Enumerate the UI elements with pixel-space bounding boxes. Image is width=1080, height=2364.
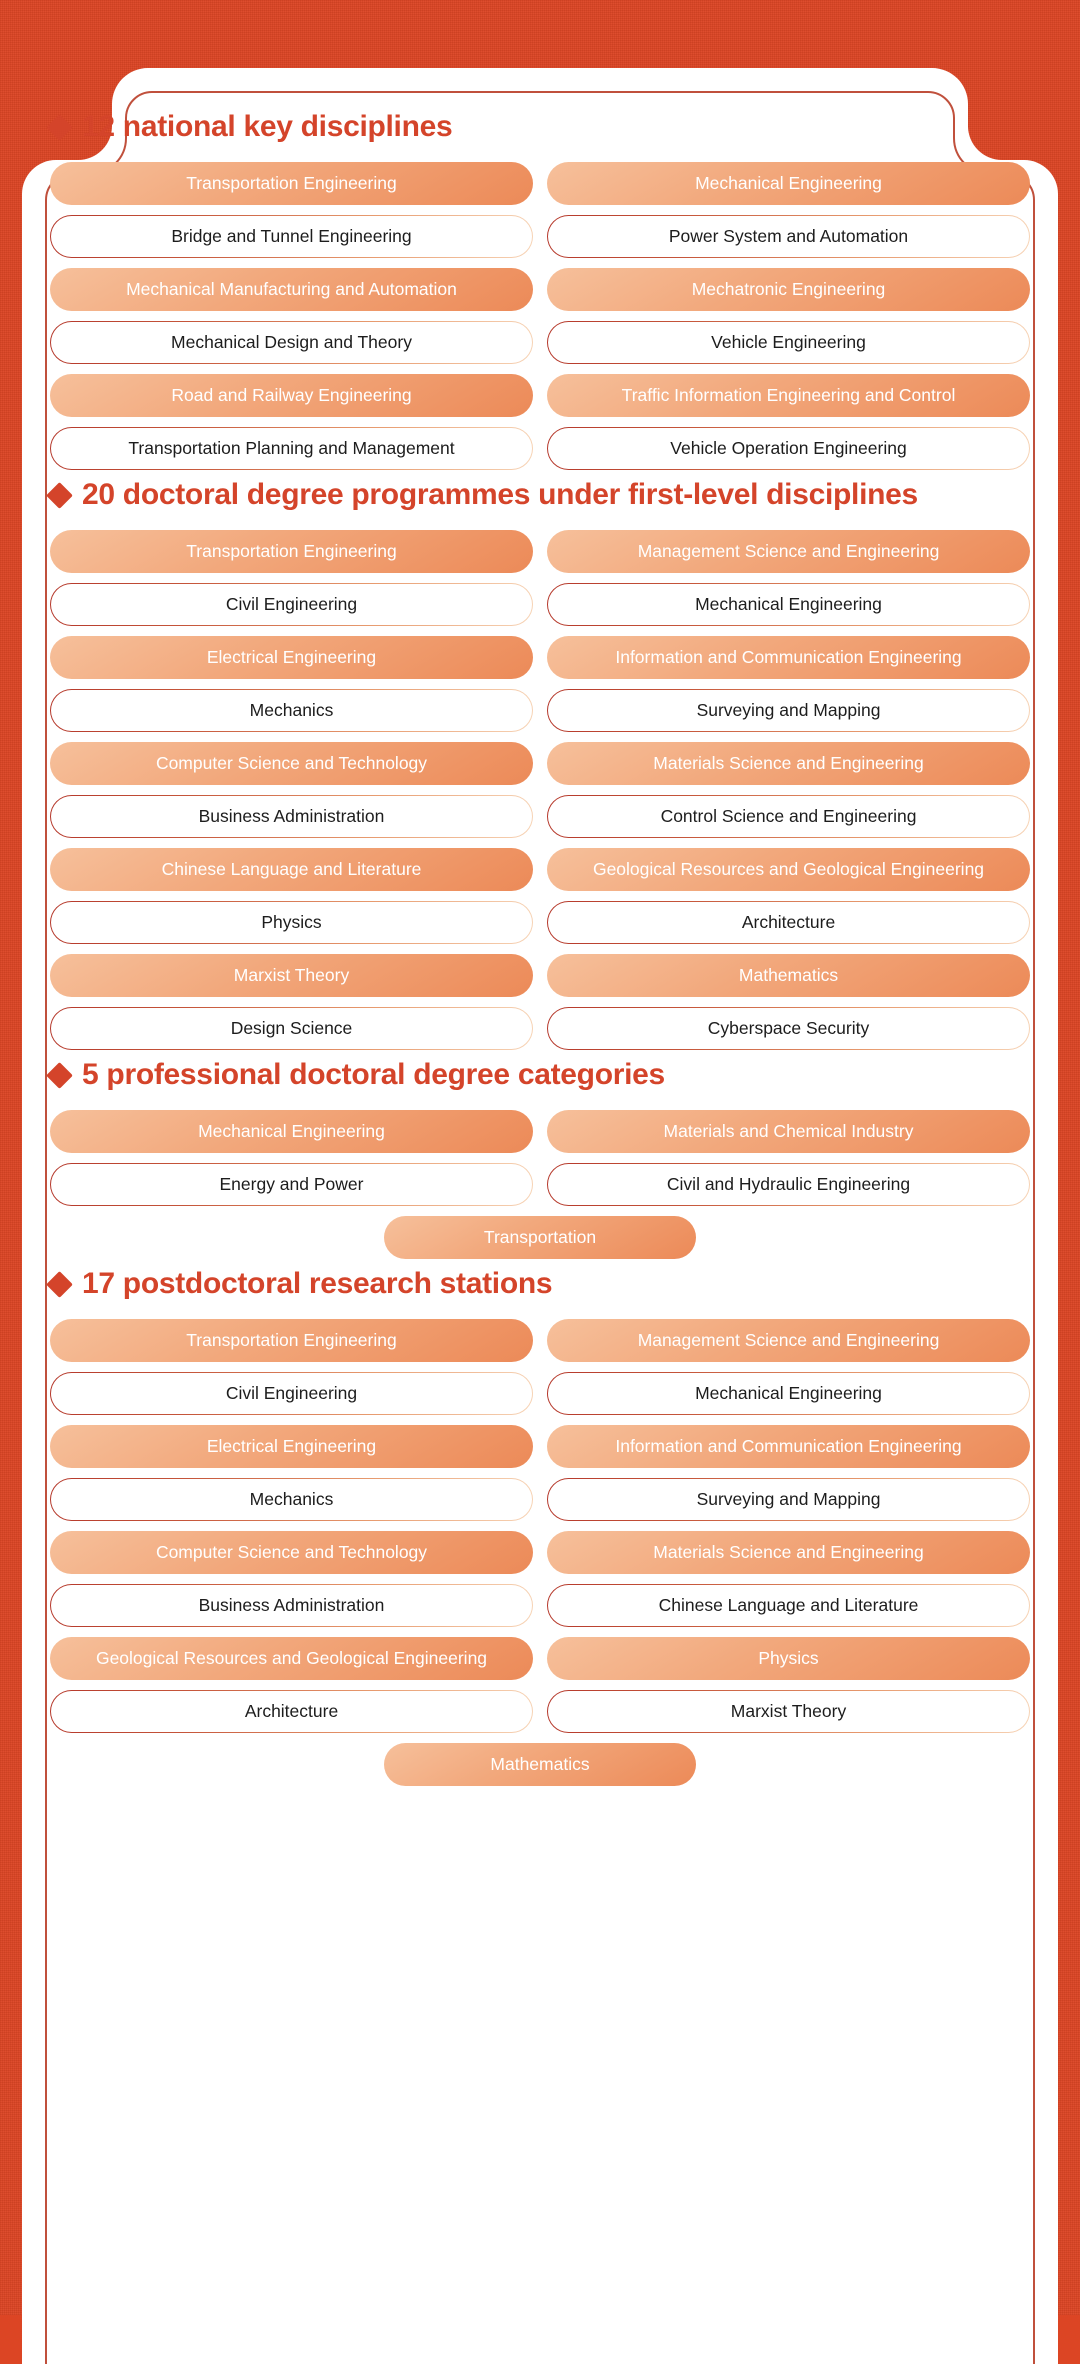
discipline-pill[interactable]: Chinese Language and Literature [50,848,533,891]
discipline-pill[interactable]: Mechanical Design and Theory [50,321,533,364]
discipline-pill[interactable]: Business Administration [50,795,533,838]
discipline-pill[interactable]: Materials Science and Engineering [547,1531,1030,1574]
discipline-pill[interactable]: Vehicle Engineering [547,321,1030,364]
discipline-pill[interactable]: Electrical Engineering [50,636,533,679]
section-professional-doctoral-categories: 5 professional doctoral degree categorie… [50,1060,1030,1259]
diamond-icon [46,482,73,509]
discipline-pill[interactable]: Geological Resources and Geological Engi… [50,1637,533,1680]
section-header: 17 postdoctoral research stations [50,1269,1030,1299]
section-national-key-disciplines: 12 national key disciplinesTransportatio… [50,112,1030,470]
discipline-pill[interactable]: Materials and Chemical Industry [547,1110,1030,1153]
discipline-pill-grid: Transportation EngineeringManagement Sci… [50,530,1030,1050]
diamond-icon [46,1062,73,1089]
discipline-pill[interactable]: Transportation Engineering [50,530,533,573]
discipline-pill[interactable]: Civil Engineering [50,1372,533,1415]
discipline-pill[interactable]: Physics [50,901,533,944]
discipline-pill[interactable]: Computer Science and Technology [50,742,533,785]
discipline-pill[interactable]: Computer Science and Technology [50,1531,533,1574]
discipline-pill[interactable]: Marxist Theory [547,1690,1030,1733]
section-header: 20 doctoral degree programmes under firs… [50,480,1030,510]
section-title: 5 professional doctoral degree categorie… [82,1060,665,1090]
discipline-pill[interactable]: Mechanical Manufacturing and Automation [50,268,533,311]
discipline-pill[interactable]: Mathematics [384,1743,696,1786]
discipline-pill[interactable]: Architecture [547,901,1030,944]
discipline-pill[interactable]: Mechanical Engineering [547,583,1030,626]
section-header: 12 national key disciplines [50,112,1030,142]
discipline-pill[interactable]: Vehicle Operation Engineering [547,427,1030,470]
discipline-pill[interactable]: Design Science [50,1007,533,1050]
discipline-pill[interactable]: Civil Engineering [50,583,533,626]
discipline-pill[interactable]: Power System and Automation [547,215,1030,258]
section-title: 20 doctoral degree programmes under firs… [82,480,918,510]
centered-pill-row: Transportation [50,1216,1030,1259]
discipline-pill[interactable]: Control Science and Engineering [547,795,1030,838]
discipline-pill[interactable]: Materials Science and Engineering [547,742,1030,785]
discipline-pill[interactable]: Transportation Engineering [50,162,533,205]
discipline-pill[interactable]: Marxist Theory [50,954,533,997]
discipline-pill[interactable]: Chinese Language and Literature [547,1584,1030,1627]
discipline-pill[interactable]: Mechanical Engineering [547,162,1030,205]
discipline-pill[interactable]: Electrical Engineering [50,1425,533,1468]
discipline-pill[interactable]: Physics [547,1637,1030,1680]
discipline-pill[interactable]: Business Administration [50,1584,533,1627]
discipline-pill[interactable]: Surveying and Mapping [547,689,1030,732]
discipline-pill[interactable]: Surveying and Mapping [547,1478,1030,1521]
discipline-pill[interactable]: Mechanics [50,1478,533,1521]
discipline-pill[interactable]: Transportation Engineering [50,1319,533,1362]
section-doctoral-degree-programmes: 20 doctoral degree programmes under firs… [50,480,1030,1050]
centered-pill-row: Mathematics [50,1743,1030,1786]
discipline-pill[interactable]: Road and Railway Engineering [50,374,533,417]
discipline-pill[interactable]: Management Science and Engineering [547,1319,1030,1362]
discipline-pill[interactable]: Transportation [384,1216,696,1259]
discipline-pill-grid: Mechanical EngineeringMaterials and Chem… [50,1110,1030,1206]
discipline-pill[interactable]: Information and Communication Engineerin… [547,636,1030,679]
discipline-pill[interactable]: Energy and Power [50,1163,533,1206]
card-content: 12 national key disciplinesTransportatio… [22,34,1058,2364]
diamond-icon [46,114,73,141]
diamond-icon [46,1271,73,1298]
discipline-pill[interactable]: Geological Resources and Geological Engi… [547,848,1030,891]
discipline-pill[interactable]: Transportation Planning and Management [50,427,533,470]
discipline-pill[interactable]: Bridge and Tunnel Engineering [50,215,533,258]
discipline-pill[interactable]: Mechanics [50,689,533,732]
discipline-pill[interactable]: Mathematics [547,954,1030,997]
discipline-pill-grid: Transportation EngineeringManagement Sci… [50,1319,1030,1733]
section-header: 5 professional doctoral degree categorie… [50,1060,1030,1090]
discipline-pill[interactable]: Management Science and Engineering [547,530,1030,573]
discipline-pill[interactable]: Information and Communication Engineerin… [547,1425,1030,1468]
discipline-pill[interactable]: Mechanical Engineering [50,1110,533,1153]
discipline-pill[interactable]: Cyberspace Security [547,1007,1030,1050]
section-title: 17 postdoctoral research stations [82,1269,552,1299]
discipline-pill-grid: Transportation EngineeringMechanical Eng… [50,162,1030,470]
discipline-pill[interactable]: Mechanical Engineering [547,1372,1030,1415]
discipline-pill[interactable]: Mechatronic Engineering [547,268,1030,311]
discipline-pill[interactable]: Architecture [50,1690,533,1733]
section-postdoctoral-research-stations: 17 postdoctoral research stationsTranspo… [50,1269,1030,1786]
disciplines-card: 12 national key disciplinesTransportatio… [22,34,1058,2364]
discipline-pill[interactable]: Traffic Information Engineering and Cont… [547,374,1030,417]
section-title: 12 national key disciplines [82,112,452,142]
discipline-pill[interactable]: Civil and Hydraulic Engineering [547,1163,1030,1206]
